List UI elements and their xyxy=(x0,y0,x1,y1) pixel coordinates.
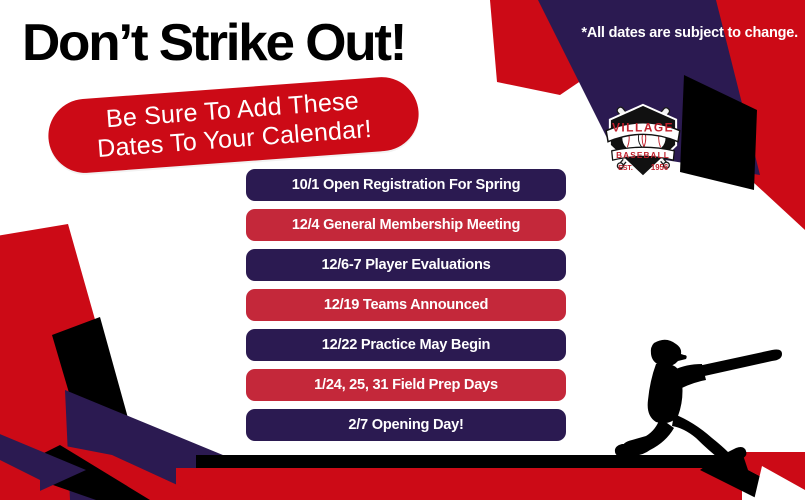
top-right-black-block xyxy=(680,75,757,190)
date-pill[interactable]: 12/6-7 Player Evaluations xyxy=(246,249,566,281)
date-pill-label: 12/19 Teams Announced xyxy=(324,297,488,313)
disclaimer-text: *All dates are subject to change. xyxy=(533,25,798,41)
page-title: Don’t Strike Out! xyxy=(22,14,512,72)
date-pill-label: 10/1 Open Registration For Spring xyxy=(292,177,521,193)
flyer-canvas: Don’t Strike Out! *All dates are subject… xyxy=(0,0,805,500)
baseball-batter-silhouette-icon xyxy=(612,330,797,470)
date-pill[interactable]: 1/24, 25, 31 Field Prep Days xyxy=(246,369,566,401)
logo-top-text: VILLAGE xyxy=(612,121,674,135)
bottom-left-red-block xyxy=(0,455,40,500)
call-to-action-banner: Be Sure To Add These Dates To Your Calen… xyxy=(46,75,421,176)
date-pill[interactable]: 12/19 Teams Announced xyxy=(246,289,566,321)
top-right-red-shape-a xyxy=(490,0,700,95)
bottom-left-red-chevron xyxy=(60,445,210,500)
date-pill-label: 12/22 Practice May Begin xyxy=(322,337,490,353)
call-to-action-banner-text: Be Sure To Add These Dates To Your Calen… xyxy=(46,75,421,176)
date-pill-label: 12/4 General Membership Meeting xyxy=(292,217,520,233)
left-red-slab xyxy=(0,224,146,500)
date-pill-label: 2/7 Opening Day! xyxy=(348,417,463,433)
bottom-right-white-notch xyxy=(754,466,805,500)
logo-established-year: 1956 xyxy=(651,163,669,172)
logo-established-label: EST. xyxy=(618,165,633,172)
bottom-left-navy-wedge xyxy=(0,430,86,500)
date-pill-label: 1/24, 25, 31 Field Prep Days xyxy=(314,377,498,393)
date-pill[interactable]: 2/7 Opening Day! xyxy=(246,409,566,441)
date-pill[interactable]: 12/4 General Membership Meeting xyxy=(246,209,566,241)
left-navy-triangle xyxy=(65,390,235,500)
date-pill-label: 12/6-7 Player Evaluations xyxy=(322,257,491,273)
left-black-quad xyxy=(52,317,128,437)
village-baseball-logo: VILLAGE BASEBALL EST. 1956 xyxy=(597,92,689,184)
key-dates-list: 10/1 Open Registration For Spring 12/4 G… xyxy=(246,169,566,441)
date-pill[interactable]: 10/1 Open Registration For Spring xyxy=(246,169,566,201)
bottom-red-bar xyxy=(176,468,742,500)
logo-bottom-text: BASEBALL xyxy=(616,151,670,160)
date-pill[interactable]: 12/22 Practice May Begin xyxy=(246,329,566,361)
bottom-left-black-chevron xyxy=(10,445,172,500)
